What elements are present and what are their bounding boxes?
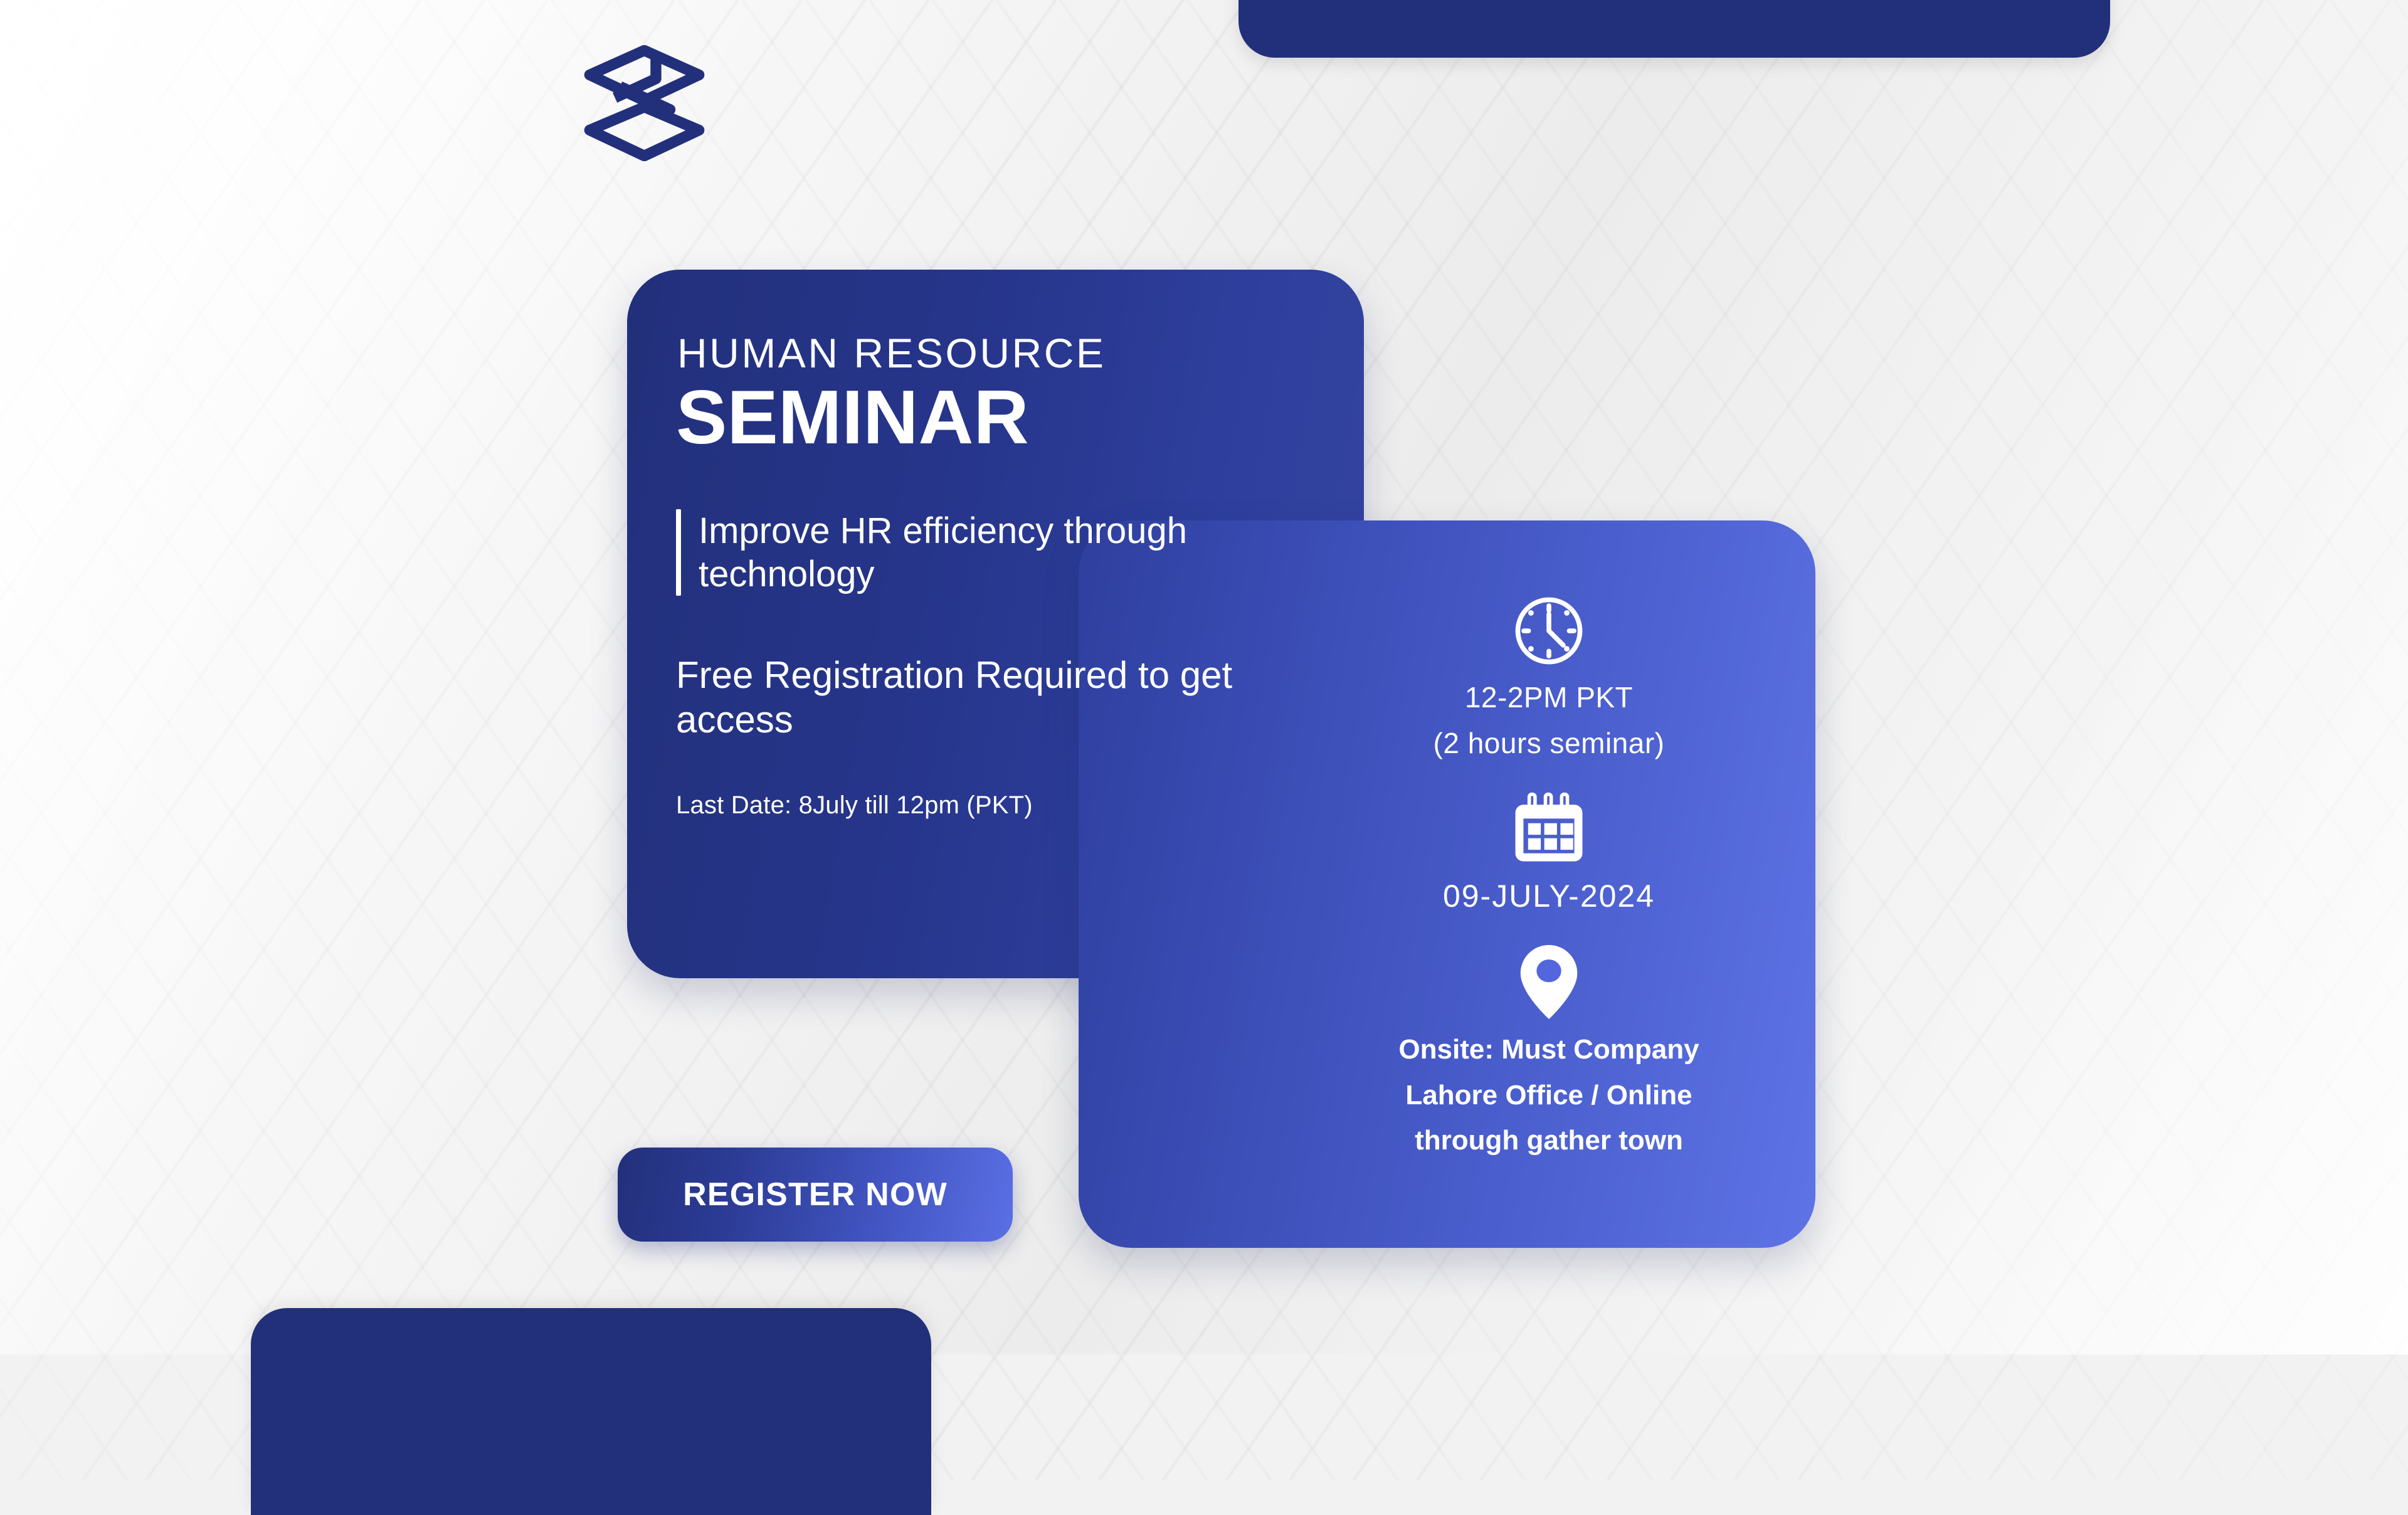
deadline-text: Last Date: 8July till 12pm (PKT) bbox=[676, 791, 1309, 820]
lead-text: Free Registration Required to get access bbox=[676, 653, 1309, 742]
clock-icon bbox=[1317, 593, 1781, 669]
detail-time: 12-2PM PKT (2 hours seminar) bbox=[1317, 593, 1781, 761]
event-details-column: 12-2PM PKT (2 hours seminar) 09-JULY-202… bbox=[1317, 593, 1781, 1175]
location-line-1: Onsite: Must Company bbox=[1317, 1033, 1781, 1067]
calendar-icon bbox=[1317, 792, 1781, 866]
brand-logo bbox=[580, 45, 709, 161]
decorative-block-bottom-left bbox=[251, 1308, 931, 1515]
page-title: SEMINAR bbox=[676, 379, 1309, 455]
detail-location: Onsite: Must Company Lahore Office / Onl… bbox=[1317, 942, 1781, 1158]
time-line-2: (2 hours seminar) bbox=[1317, 726, 1781, 761]
location-pin-icon bbox=[1317, 942, 1781, 1021]
decorative-block-top-right bbox=[1238, 0, 2110, 58]
stacked-layers-logo-icon bbox=[580, 45, 709, 161]
card-text-column: HUMAN RESOURCE SEMINAR Improve HR effici… bbox=[676, 332, 1309, 820]
date-text: 09-JULY-2024 bbox=[1317, 877, 1781, 915]
detail-date: 09-JULY-2024 bbox=[1317, 792, 1781, 915]
subtitle-accent-bar bbox=[676, 509, 681, 596]
location-line-2: Lahore Office / Online bbox=[1317, 1079, 1781, 1113]
kicker-text: HUMAN RESOURCE bbox=[677, 332, 1309, 374]
subtitle-text: Improve HR efficiency through technology bbox=[699, 509, 1309, 596]
subtitle-group: Improve HR efficiency through technology bbox=[676, 509, 1309, 596]
register-now-button[interactable]: REGISTER NOW bbox=[618, 1148, 1013, 1242]
time-line-1: 12-2PM PKT bbox=[1317, 680, 1781, 715]
location-line-3: through gather town bbox=[1317, 1124, 1781, 1158]
